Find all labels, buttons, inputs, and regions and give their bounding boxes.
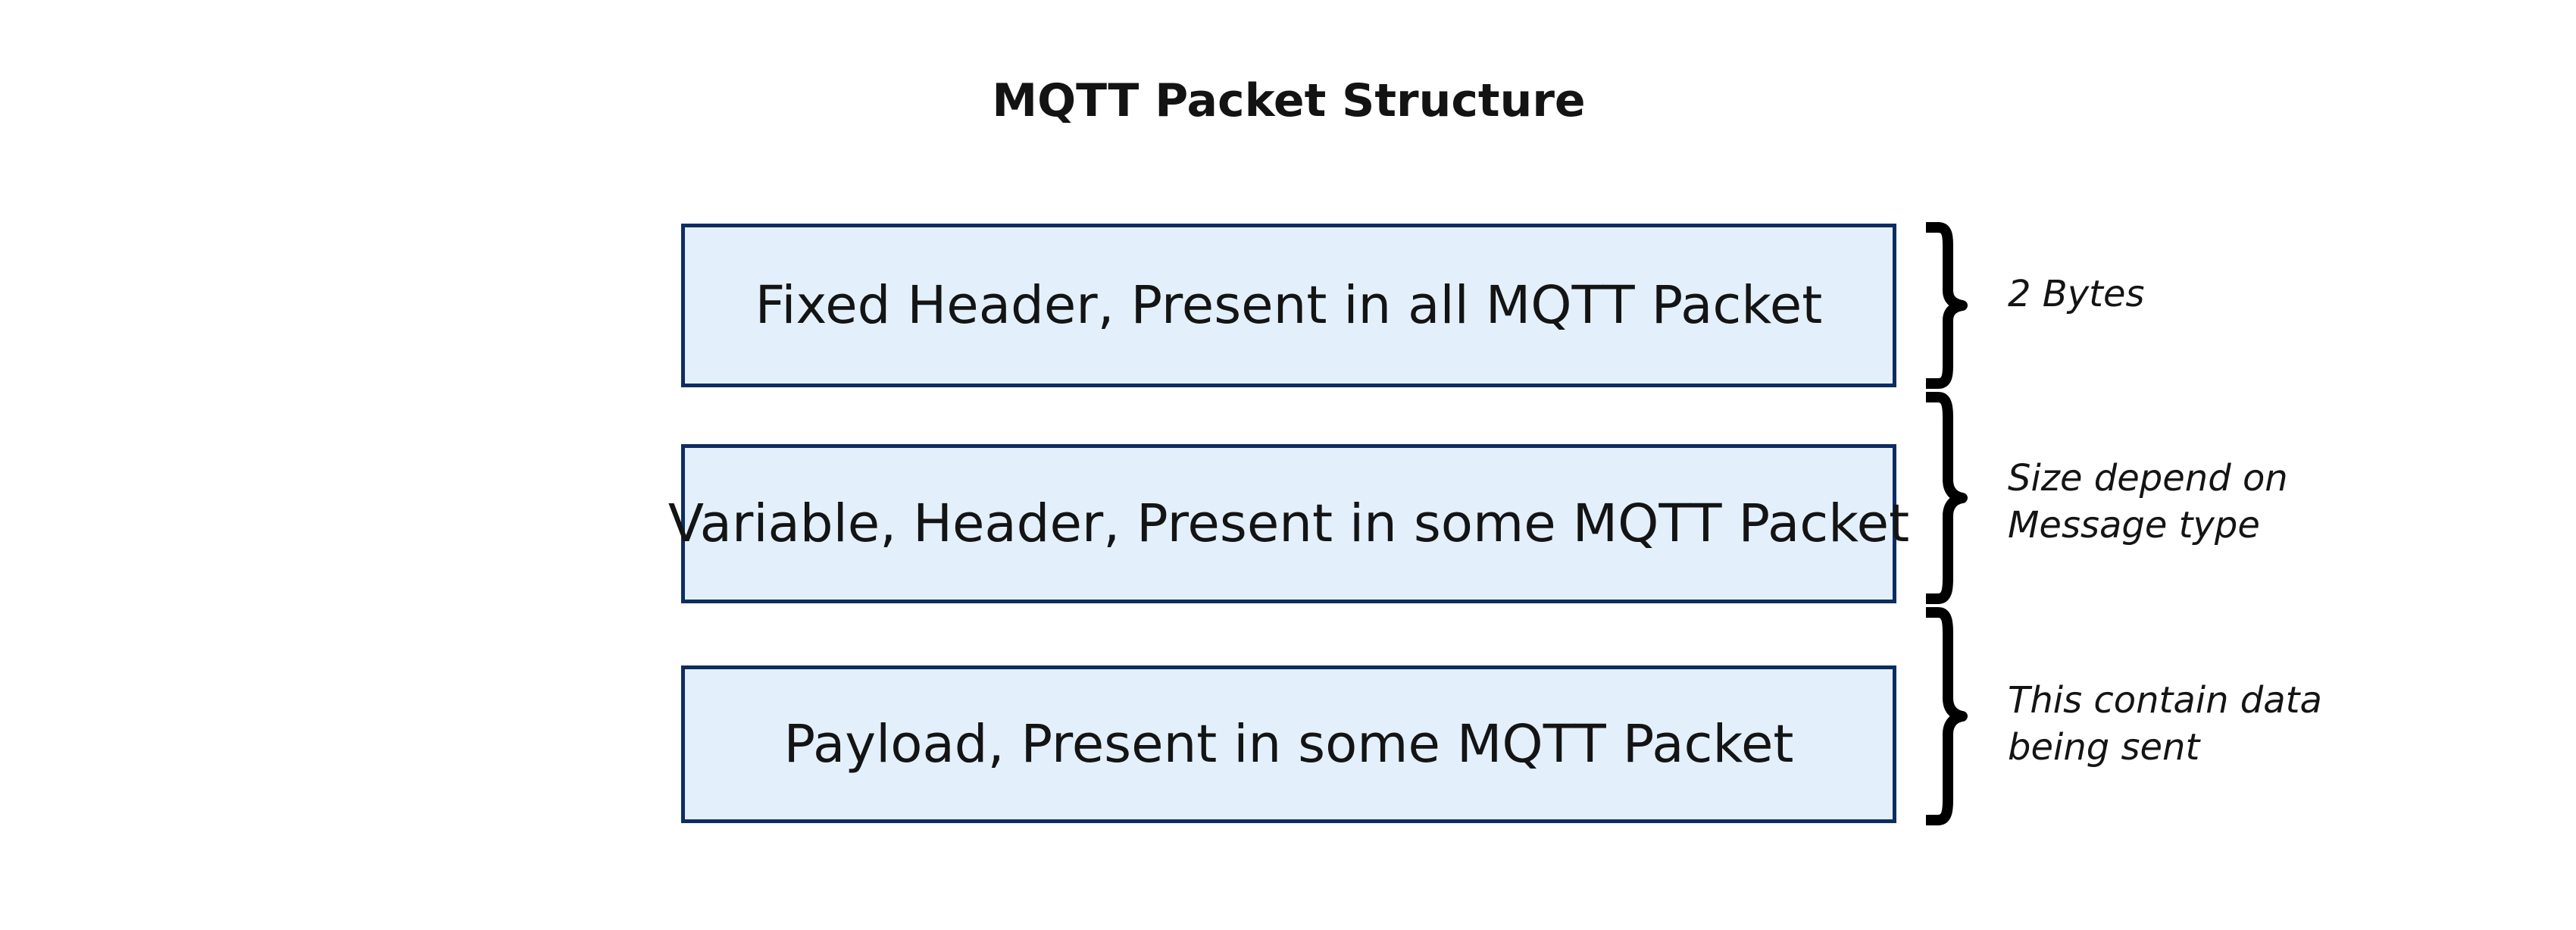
- annotation-payload: This contain data being sent: [2008, 677, 2322, 772]
- page-title: MQTT Packet Structure: [681, 74, 1896, 127]
- packet-box-label: Fixed Header, Present in all MQTT Packet: [755, 280, 1823, 332]
- annotation-variable-header: Size depend on Message type: [2008, 455, 2288, 550]
- curly-brace-right-icon: [1924, 390, 1964, 606]
- packet-box-label: Payload, Present in some MQTT Packet: [784, 719, 1794, 771]
- curly-brace-right-icon: [1924, 221, 1964, 390]
- packet-box-fixed-header: Fixed Header, Present in all MQTT Packet: [681, 224, 1896, 387]
- annotation-fixed-header: 2 Bytes: [2008, 271, 2145, 318]
- packet-box-variable-header: Variable, Header, Present in some MQTT P…: [681, 444, 1896, 603]
- mqtt-packet-structure-diagram: MQTT Packet Structure Fixed Header, Pres…: [0, 0, 2576, 930]
- packet-box-label: Variable, Header, Present in some MQTT P…: [668, 498, 1909, 550]
- curly-brace-right-icon: [1924, 606, 1964, 827]
- packet-box-payload: Payload, Present in some MQTT Packet: [681, 665, 1896, 823]
